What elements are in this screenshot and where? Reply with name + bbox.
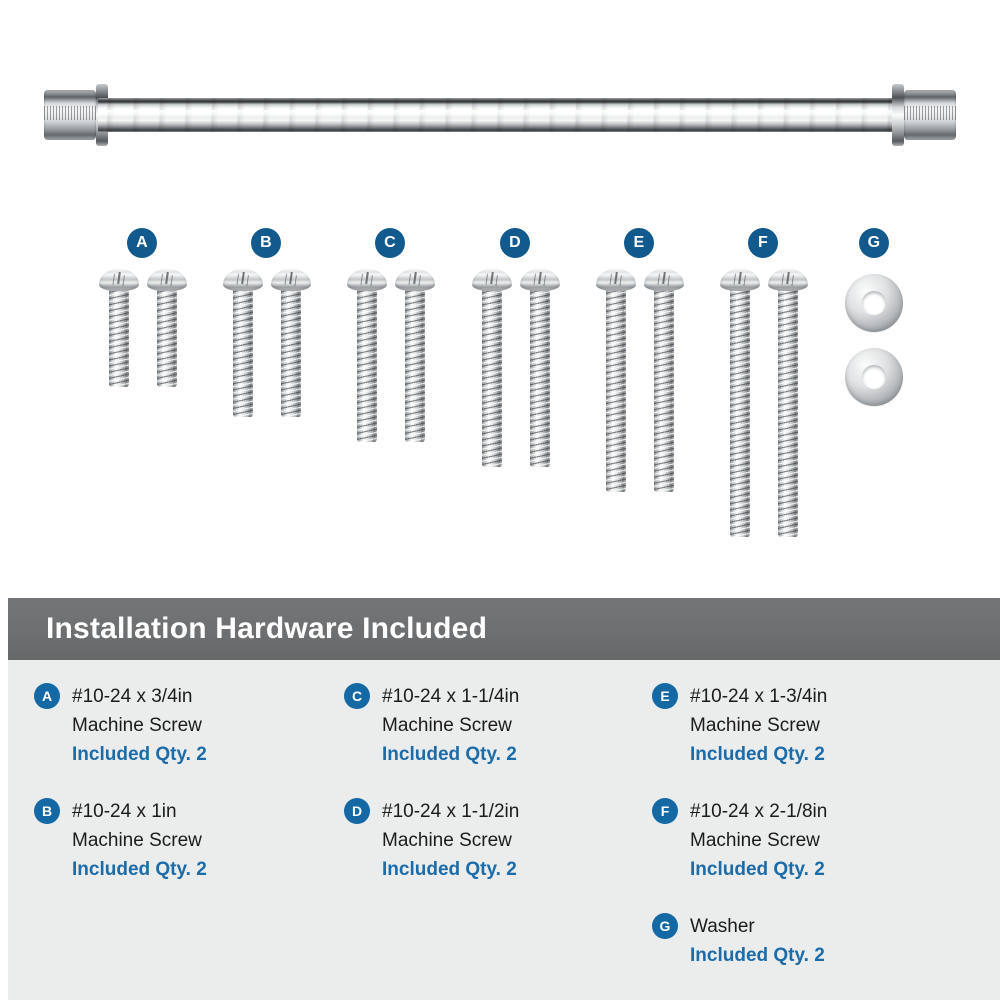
item-quantity: Included Qty. 2 bbox=[690, 855, 972, 884]
screw-shaft bbox=[778, 287, 798, 537]
screw-shaft bbox=[233, 287, 253, 417]
hardware-item-f: F #10-24 x 2-1/8in Machine Screw Include… bbox=[652, 797, 972, 884]
washer-2 bbox=[845, 348, 903, 406]
screw-shaft bbox=[606, 287, 626, 492]
item-quantity: Included Qty. 2 bbox=[72, 855, 334, 884]
group-badge-g: G bbox=[859, 228, 889, 258]
screw-head bbox=[223, 268, 263, 291]
washer-hole bbox=[862, 365, 886, 389]
item-badge-g: G bbox=[652, 913, 678, 939]
chrome-highlight bbox=[98, 110, 908, 119]
hardware-item-a: A #10-24 x 3/4in Machine Screw Included … bbox=[34, 682, 334, 769]
panel-body: A #10-24 x 3/4in Machine Screw Included … bbox=[8, 660, 1000, 1000]
group-badge-f: F bbox=[748, 228, 778, 258]
end-cap-knurling bbox=[44, 106, 96, 120]
item-description: Machine Screw bbox=[382, 826, 644, 855]
group-badge-c: C bbox=[375, 228, 405, 258]
product-illustration-area: A B C bbox=[0, 0, 1000, 590]
hardware-item-e: E #10-24 x 1-3/4in Machine Screw Include… bbox=[652, 682, 972, 769]
item-quantity: Included Qty. 2 bbox=[382, 740, 644, 769]
group-badge-e: E bbox=[624, 228, 654, 258]
item-description: Machine Screw bbox=[690, 711, 972, 740]
hardware-item-c: C #10-24 x 1-1/4in Machine Screw Include… bbox=[344, 682, 644, 769]
screw-head bbox=[596, 268, 636, 291]
screw-head bbox=[347, 268, 387, 291]
screw-shaft bbox=[405, 287, 425, 442]
item-description: Machine Screw bbox=[72, 826, 334, 855]
hardware-item-g: G Washer Included Qty. 2 bbox=[652, 912, 972, 970]
item-quantity: Included Qty. 2 bbox=[382, 855, 644, 884]
item-badge-c: C bbox=[344, 683, 370, 709]
screw-shaft bbox=[654, 287, 674, 492]
item-spec: #10-24 x 2-1/8in bbox=[690, 797, 972, 826]
screw-head bbox=[99, 268, 139, 291]
screw-head bbox=[147, 268, 187, 291]
hardware-item-b: B #10-24 x 1in Machine Screw Included Qt… bbox=[34, 797, 334, 884]
hardware-column-3: E #10-24 x 1-3/4in Machine Screw Include… bbox=[652, 682, 972, 998]
item-spec: #10-24 x 1in bbox=[72, 797, 334, 826]
hardware-column-2: C #10-24 x 1-1/4in Machine Screw Include… bbox=[344, 682, 644, 912]
screw-shaft bbox=[530, 287, 550, 467]
screw-shaft bbox=[157, 287, 177, 387]
group-badge-b: B bbox=[251, 228, 281, 258]
end-cap-knurling bbox=[904, 106, 956, 120]
item-description: Machine Screw bbox=[690, 826, 972, 855]
item-spec: #10-24 x 3/4in bbox=[72, 682, 334, 711]
hardware-column-1: A #10-24 x 3/4in Machine Screw Included … bbox=[34, 682, 334, 912]
group-badge-d: D bbox=[500, 228, 530, 258]
towel-bar-product-image bbox=[38, 84, 962, 146]
screw-shaft bbox=[109, 287, 129, 387]
screw-head bbox=[395, 268, 435, 291]
screw-head bbox=[472, 268, 512, 291]
screw-head bbox=[720, 268, 760, 291]
screw-head bbox=[644, 268, 684, 291]
item-spec: #10-24 x 1-3/4in bbox=[690, 682, 972, 711]
hardware-item-d: D #10-24 x 1-1/2in Machine Screw Include… bbox=[344, 797, 644, 884]
washer-stack bbox=[845, 274, 903, 422]
screw-shaft bbox=[281, 287, 301, 417]
item-badge-b: B bbox=[34, 798, 60, 824]
towel-bar-right-end-cap bbox=[898, 84, 962, 146]
item-spec: #10-24 x 1-1/4in bbox=[382, 682, 644, 711]
item-spec: Washer bbox=[690, 912, 972, 941]
item-quantity: Included Qty. 2 bbox=[690, 941, 972, 970]
screw-shaft bbox=[730, 287, 750, 537]
screw-head bbox=[520, 268, 560, 291]
screw-head bbox=[768, 268, 808, 291]
screw-head bbox=[271, 268, 311, 291]
item-badge-d: D bbox=[344, 798, 370, 824]
towel-bar-left-end-cap bbox=[38, 84, 102, 146]
item-quantity: Included Qty. 2 bbox=[690, 740, 972, 769]
item-description: Machine Screw bbox=[382, 711, 644, 740]
group-badge-a: A bbox=[127, 228, 157, 258]
item-badge-a: A bbox=[34, 683, 60, 709]
screw-shaft bbox=[482, 287, 502, 467]
washer-1 bbox=[845, 274, 903, 332]
item-quantity: Included Qty. 2 bbox=[72, 740, 334, 769]
panel-header-bar: Installation Hardware Included bbox=[8, 598, 1000, 660]
screw-shaft bbox=[357, 287, 377, 442]
item-description: Machine Screw bbox=[72, 711, 334, 740]
item-badge-f: F bbox=[652, 798, 678, 824]
towel-bar-rod bbox=[98, 98, 908, 132]
washer-hole bbox=[862, 291, 886, 315]
item-spec: #10-24 x 1-1/2in bbox=[382, 797, 644, 826]
panel-title: Installation Hardware Included bbox=[46, 612, 487, 646]
installation-hardware-panel: Installation Hardware Included A #10-24 … bbox=[0, 590, 1000, 1000]
item-badge-e: E bbox=[652, 683, 678, 709]
end-cap-flange bbox=[892, 84, 904, 146]
